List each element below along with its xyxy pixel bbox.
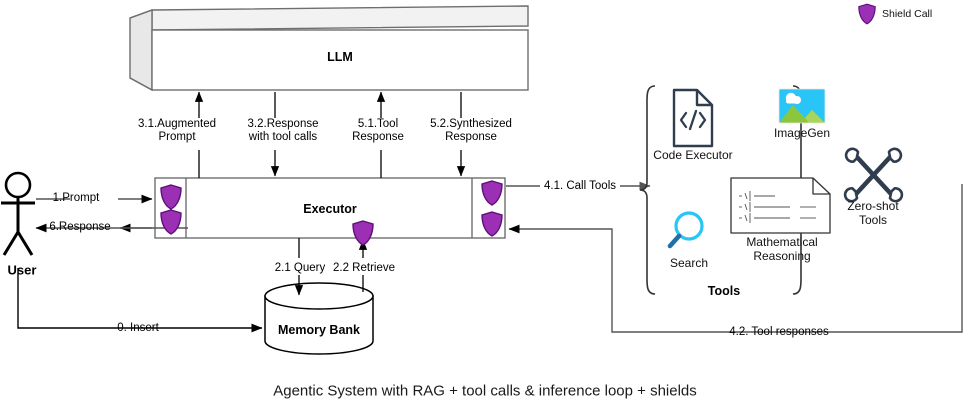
edge-label-synthesized-response: 5.2.Synthesized Response <box>430 118 512 144</box>
shield-icon <box>481 211 503 237</box>
image-icon <box>779 89 825 123</box>
edge-label-augmented-prompt: 3.1.Augmented Prompt <box>138 118 216 144</box>
magnifier-icon <box>670 213 702 246</box>
tool-label-code-executor: Code Executor <box>653 148 732 162</box>
tool-label-math-reasoning: Mathematical Reasoning <box>746 235 817 263</box>
edge-label-synthesized-line1: 5.2.Synthesized <box>430 118 512 131</box>
formula-page-icon <box>731 178 830 233</box>
executor-label: Executor <box>303 202 357 216</box>
edge-label-tool-responses: 4.2. Tool responses <box>729 326 829 339</box>
memory-bank-cylinder <box>265 283 373 354</box>
diagram-caption: Agentic System with RAG + tool calls & i… <box>273 383 697 400</box>
tool-label-math-line1: Mathematical <box>746 235 817 249</box>
user-label: User <box>8 263 37 278</box>
memory-bank-label: Memory Bank <box>278 323 360 337</box>
edge-label-tool-response: 5.1.Tool Response <box>352 118 404 144</box>
edge-label-retrieve: 2.2 Retrieve <box>333 262 395 275</box>
edge-label-response-with-tool-calls: 3.2.Response with tool calls <box>248 118 319 144</box>
tool-label-imagegen: ImageGen <box>774 126 830 140</box>
tool-label-zero-shot-tools: Zero-shot Tools <box>847 199 898 227</box>
edge-label-tool-response-line2: Response <box>352 131 404 144</box>
shield-icon <box>481 180 503 206</box>
edge-label-augmented-prompt-line1: 3.1.Augmented <box>138 118 216 131</box>
edge-label-query: 2.1 Query <box>275 262 326 275</box>
edge-label-tool-response-line1: 5.1.Tool <box>352 118 404 131</box>
llm-label: LLM <box>327 50 353 64</box>
tool-label-math-line2: Reasoning <box>746 249 817 263</box>
shield-icon <box>352 220 374 246</box>
edge-label-response-toolcalls-line2: with tool calls <box>248 131 319 144</box>
legend-shield-icon <box>858 3 876 25</box>
tool-label-zero-shot-line2: Tools <box>847 213 898 227</box>
edge-label-insert: 0. Insert <box>117 322 159 335</box>
edge-label-augmented-prompt-line2: Prompt <box>138 131 216 144</box>
edge-label-response: 6.Response <box>49 221 110 234</box>
tool-label-search: Search <box>670 256 708 270</box>
crossed-wrenches-icon <box>845 149 902 201</box>
edge-label-call-tools: 4.1. Call Tools <box>544 180 616 193</box>
shield-icon <box>160 184 182 210</box>
llm-box <box>130 6 528 90</box>
edge-label-response-toolcalls-line1: 3.2.Response <box>248 118 319 131</box>
tool-label-zero-shot-line1: Zero-shot <box>847 199 898 213</box>
user-stick-figure <box>1 173 35 255</box>
tools-group-label: Tools <box>708 284 740 298</box>
edge-label-synthesized-line2: Response <box>430 131 512 144</box>
legend-label: Shield Call <box>882 8 932 20</box>
code-file-icon <box>674 90 712 146</box>
edge-insert <box>18 268 262 328</box>
edge-label-prompt: 1.Prompt <box>53 192 100 205</box>
diagram-canvas: Shield Call LLM Executor Memory Bank Use… <box>0 0 970 411</box>
shield-icon <box>160 209 182 235</box>
